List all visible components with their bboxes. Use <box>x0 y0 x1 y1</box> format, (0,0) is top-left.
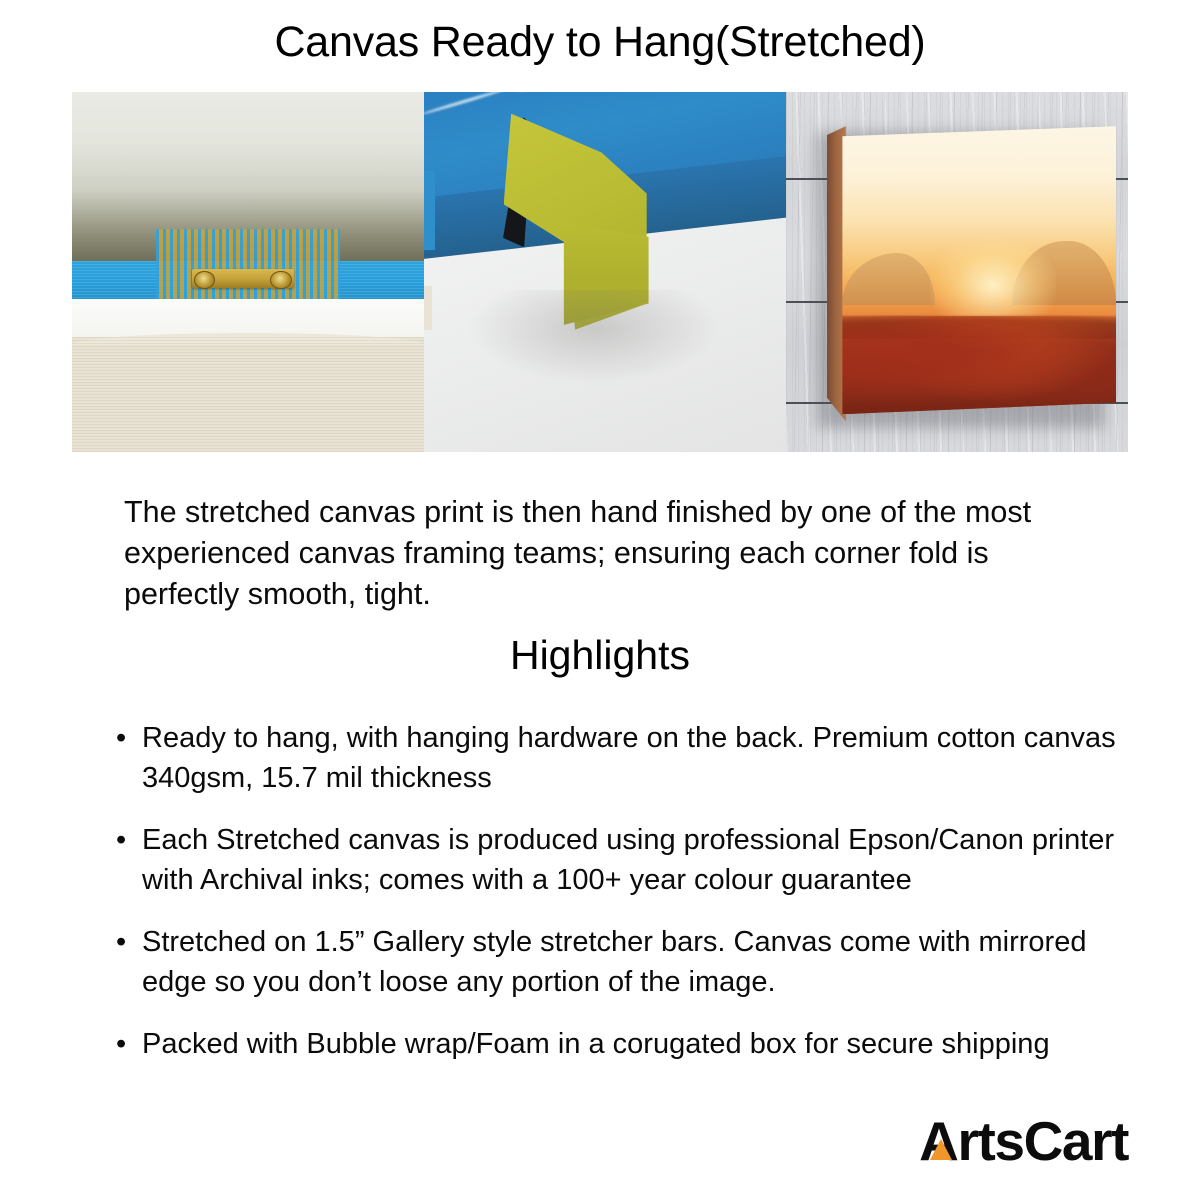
bullet-icon: • <box>116 1024 126 1064</box>
product-description: The stretched canvas print is then hand … <box>124 492 1104 615</box>
photo2-cloud-streak <box>424 92 508 116</box>
photo3-canvas-face-sunset <box>842 126 1116 414</box>
highlight-item: • Each Stretched canvas is produced usin… <box>110 820 1120 900</box>
photo2-left-beige-strip <box>424 286 432 329</box>
photo2-left-blue-strip <box>424 171 435 250</box>
bullet-icon: • <box>116 820 126 860</box>
highlights-list: • Ready to hang, with hanging hardware o… <box>110 718 1120 1086</box>
product-image-gallery <box>72 92 1128 452</box>
page-title: Canvas Ready to Hang(Stretched) <box>0 18 1200 67</box>
highlight-item-text: Stretched on 1.5” Gallery style stretche… <box>142 926 1086 998</box>
brand-logo[interactable]: ArtsCart <box>919 1110 1128 1172</box>
highlights-heading: Highlights <box>0 632 1200 679</box>
photo3-foreground-landscape <box>842 316 1116 414</box>
highlight-item: • Stretched on 1.5” Gallery style stretc… <box>110 922 1120 1002</box>
highlight-item: • Ready to hang, with hanging hardware o… <box>110 718 1120 798</box>
gallery-image-canvas-back-hanging-hardware[interactable] <box>72 92 424 452</box>
highlight-item-text: Packed with Bubble wrap/Foam in a coruga… <box>142 1028 1050 1060</box>
highlight-item: • Packed with Bubble wrap/Foam in a coru… <box>110 1024 1120 1064</box>
bullet-icon: • <box>116 922 126 962</box>
photo1-brass-hanging-hardware-icon <box>192 269 294 288</box>
photo2-drop-shadow <box>467 290 720 384</box>
photo3-hill-left <box>842 253 935 305</box>
bullet-icon: • <box>116 718 126 758</box>
product-info-page: Canvas Ready to Hang(Stretched) <box>0 0 1200 1200</box>
triangle-icon <box>930 1139 952 1160</box>
photo1-raw-canvas-fabric <box>72 337 424 452</box>
gallery-image-canvas-corner-fold[interactable] <box>424 92 786 452</box>
gallery-image-canvas-mounted-on-wall[interactable] <box>786 92 1128 452</box>
highlight-item-text: Each Stretched canvas is produced using … <box>142 824 1114 896</box>
highlight-item-text: Ready to hang, with hanging hardware on … <box>142 722 1116 794</box>
